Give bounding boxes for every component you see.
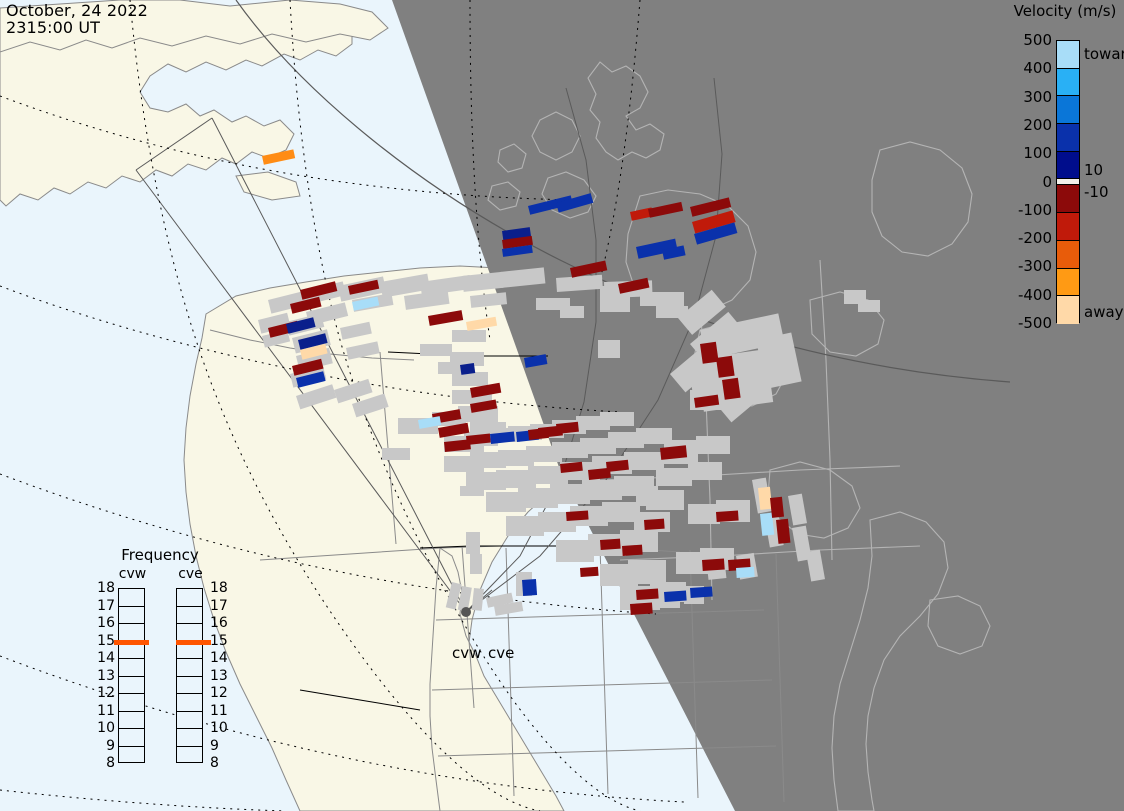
- colorbar-band-away: [1057, 241, 1079, 269]
- frequency-segment: [177, 659, 202, 677]
- velocity-cell: [522, 579, 537, 596]
- title-time: 2315:00 UT: [6, 18, 100, 37]
- colorbar-band-away: [1057, 296, 1079, 324]
- colorbar-tick: 400: [1023, 59, 1052, 77]
- frequency-legend: Frequency cvw18171615141312111098cve1817…: [85, 546, 235, 796]
- frequency-tick: 18: [210, 580, 228, 596]
- frequency-segment: [119, 747, 144, 765]
- frequency-segment: [177, 677, 202, 695]
- colorbar-gradient[interactable]: [1056, 40, 1080, 323]
- colorbar-away-label: away: [1084, 303, 1124, 321]
- frequency-segment: [119, 589, 144, 607]
- colorbar-tick: -100: [1018, 201, 1052, 219]
- frequency-bar[interactable]: [118, 588, 145, 763]
- frequency-marker: [176, 640, 211, 645]
- velocity-cell: [690, 586, 713, 598]
- colorbar-band-away: [1057, 269, 1079, 297]
- colorbar-tick: 500: [1023, 31, 1052, 49]
- frequency-tick: 13: [97, 668, 115, 684]
- frequency-tick: 16: [210, 615, 228, 631]
- frequency-tick: 11: [210, 703, 228, 719]
- frequency-tick: 13: [210, 668, 228, 684]
- velocity-cell: [716, 510, 739, 522]
- velocity-cell: [736, 567, 755, 578]
- velocity-cell: [664, 590, 687, 602]
- radar-site-label-cve: cve: [488, 644, 514, 662]
- frequency-tick: 8: [106, 755, 115, 771]
- frequency-segment: [119, 712, 144, 730]
- frequency-tick: 8: [210, 755, 219, 771]
- frequency-tick: 16: [97, 615, 115, 631]
- velocity-cell: [528, 428, 549, 440]
- colorbar-band-toward: [1057, 69, 1079, 97]
- velocity-cell: [600, 539, 621, 550]
- velocity-colorbar: Velocity (m/s) 5004003002001000-100-200-…: [1006, 0, 1124, 340]
- colorbar-band-toward: [1057, 96, 1079, 124]
- velocity-cell: [566, 510, 589, 521]
- frequency-tick: 14: [97, 650, 115, 666]
- velocity-cell: [636, 588, 659, 600]
- frequency-column-label: cve: [176, 566, 205, 582]
- frequency-column-label: cvw: [118, 566, 147, 582]
- frequency-segment: [177, 694, 202, 712]
- velocity-cell: [776, 519, 790, 544]
- frequency-tick: 15: [97, 633, 115, 649]
- radar-site-marker[interactable]: [461, 607, 471, 617]
- colorbar-title: Velocity (m/s): [1006, 2, 1124, 20]
- frequency-segment: [177, 747, 202, 765]
- frequency-tick: 18: [97, 580, 115, 596]
- colorbar-tick: 0: [1042, 173, 1052, 191]
- frequency-segment: [119, 607, 144, 625]
- frequency-segment: [119, 677, 144, 695]
- colorbar-tick: -400: [1018, 286, 1052, 304]
- timestamp-title: October, 24 20222315:00 UT: [6, 2, 148, 36]
- velocity-cell: [716, 356, 735, 378]
- colorbar-band-away: [1057, 185, 1079, 213]
- frequency-tick: 15: [210, 633, 228, 649]
- colorbar-tick: 100: [1023, 144, 1052, 162]
- frequency-tick: 9: [106, 738, 115, 754]
- frequency-segment: [177, 589, 202, 607]
- colorbar-band-away: [1057, 213, 1079, 241]
- colorbar-band-toward: [1057, 152, 1079, 180]
- velocity-cell: [722, 378, 741, 400]
- frequency-segment: [119, 659, 144, 677]
- frequency-bar[interactable]: [176, 588, 203, 763]
- frequency-tick: 9: [210, 738, 219, 754]
- frequency-tick: 17: [210, 598, 228, 614]
- frequency-tick: 10: [210, 720, 228, 736]
- frequency-tick: 12: [97, 685, 115, 701]
- superdarn-map-window: October, 24 20222315:00 UT Velocity (m/s…: [0, 0, 1124, 811]
- frequency-tick: 11: [97, 703, 115, 719]
- frequency-segment: [119, 729, 144, 747]
- velocity-cell: [700, 342, 719, 364]
- frequency-segment: [177, 712, 202, 730]
- velocity-cell: [580, 567, 599, 577]
- colorbar-tick: -300: [1018, 257, 1052, 275]
- colorbar-tick: 200: [1023, 116, 1052, 134]
- velocity-cell: [630, 602, 653, 615]
- colorbar-tick: -200: [1018, 229, 1052, 247]
- colorbar-band-toward: [1057, 124, 1079, 152]
- velocity-cell: [644, 519, 665, 530]
- frequency-legend-title: Frequency: [85, 546, 235, 564]
- colorbar-neg-threshold: -10: [1084, 183, 1109, 201]
- frequency-marker: [114, 640, 149, 645]
- colorbar-band-toward: [1057, 41, 1079, 69]
- frequency-segment: [119, 694, 144, 712]
- velocity-cell: [770, 497, 784, 518]
- frequency-tick: 14: [210, 650, 228, 666]
- frequency-tick: 12: [210, 685, 228, 701]
- frequency-tick: 10: [97, 720, 115, 736]
- velocity-cell: [702, 558, 725, 571]
- velocity-cell: [460, 363, 475, 375]
- frequency-segment: [177, 607, 202, 625]
- frequency-tick: 17: [97, 598, 115, 614]
- colorbar-toward-label: toward: [1084, 45, 1124, 63]
- colorbar-pos-threshold: 10: [1084, 161, 1103, 179]
- velocity-cell: [622, 545, 643, 556]
- radar-site-label-cvw: cvw: [452, 644, 481, 662]
- frequency-segment: [177, 729, 202, 747]
- colorbar-tick: -500: [1018, 314, 1052, 332]
- colorbar-tick: 300: [1023, 88, 1052, 106]
